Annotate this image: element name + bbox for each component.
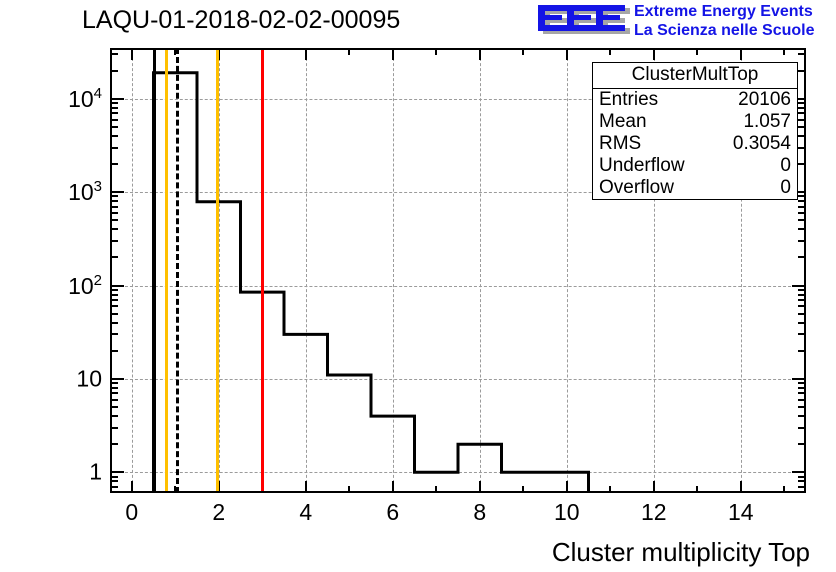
y-axis-tick-label: 103 [68, 178, 102, 206]
stats-row: Overflow0 [593, 177, 797, 199]
x-axis-tick-label: 14 [728, 499, 754, 526]
stats-rows: Entries20106Mean1.057RMS0.3054Underflow0… [593, 89, 797, 199]
x-axis-tick-label: 2 [212, 499, 225, 526]
root-canvas: LAQU-01-2018-02-02-00095 [0, 0, 836, 572]
stats-row-key: Overflow [599, 177, 674, 199]
eee-logo-line1: Extreme Energy Events [634, 2, 815, 21]
stats-row: Mean1.057 [593, 111, 797, 133]
stats-title: ClusterMultTop [593, 63, 797, 89]
y-axis-tick-label: 102 [68, 272, 102, 300]
stats-row-value: 0 [780, 155, 791, 177]
y-axis-tick-label: 1 [89, 459, 102, 486]
stats-row-value: 0.3054 [733, 133, 791, 155]
stats-row-value: 20106 [738, 89, 791, 111]
x-axis-tick-label: 4 [299, 499, 312, 526]
y-axis-tick-label: 10 [76, 365, 102, 392]
stats-row-key: Mean [599, 111, 647, 133]
x-axis-tick-label: 6 [386, 499, 399, 526]
stats-row: RMS0.3054 [593, 133, 797, 155]
x-axis-tick-label: 10 [554, 499, 580, 526]
stats-box: ClusterMultTop Entries20106Mean1.057RMS0… [592, 62, 798, 200]
stats-row: Underflow0 [593, 155, 797, 177]
x-axis-title: Cluster multiplicity Top [552, 537, 810, 568]
x-axis-tick-label: 8 [473, 499, 486, 526]
y-axis-tick-label: 104 [68, 85, 102, 113]
eee-logo-mark [536, 3, 636, 39]
eee-logo-text: Extreme Energy Events La Scienza nelle S… [634, 2, 815, 40]
x-axis-tick-label: 0 [125, 499, 138, 526]
eee-logo-line2: La Scienza nelle Scuole [634, 21, 815, 40]
stats-row-key: Underflow [599, 155, 685, 177]
stats-row-key: Entries [599, 89, 658, 111]
stats-row-key: RMS [599, 133, 641, 155]
stats-row-value: 1.057 [743, 111, 791, 133]
stats-row: Entries20106 [593, 89, 797, 111]
x-axis-tick-label: 12 [641, 499, 667, 526]
page-title: LAQU-01-2018-02-02-00095 [82, 6, 400, 35]
stats-row-value: 0 [780, 177, 791, 199]
eee-logo: Extreme Energy Events La Scienza nelle S… [536, 2, 832, 42]
